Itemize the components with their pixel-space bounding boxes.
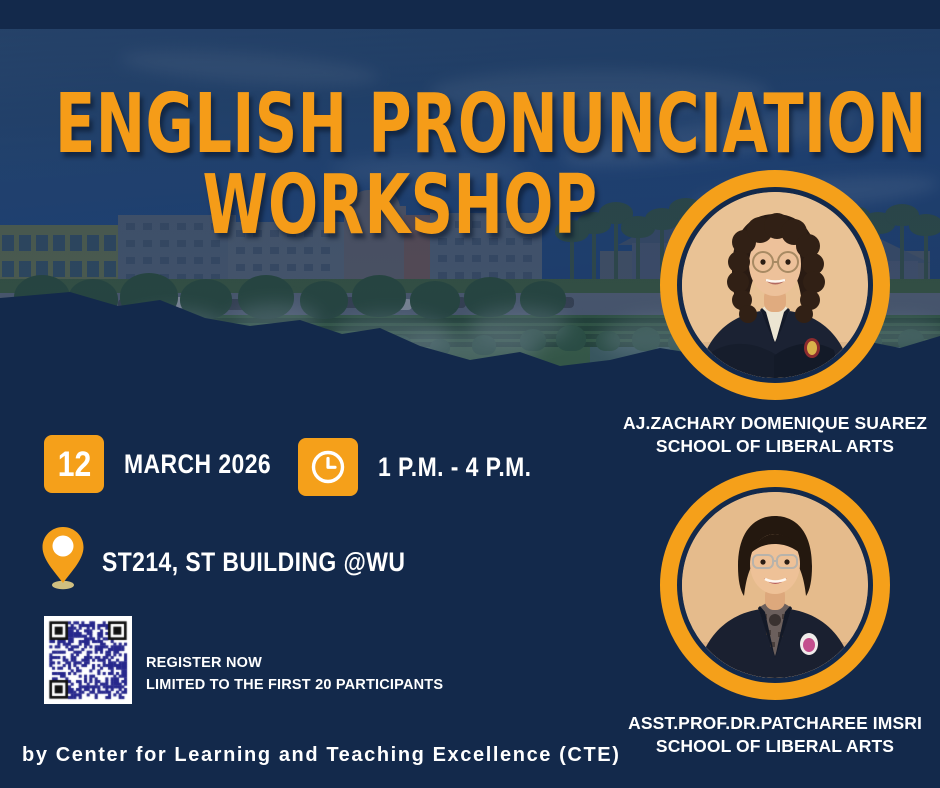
speaker-card-2: ASST.PROF.DR.PATCHAREE IMSRI SCHOOL OF L… <box>660 470 890 700</box>
speaker-caption: AJ.ZACHARY DOMENIQUE SUAREZ SCHOOL OF LI… <box>615 412 935 458</box>
limit-label: LIMITED TO THE FIRST 20 PARTICIPANTS <box>146 674 443 696</box>
date-row: 12 MARCH 2026 <box>44 435 297 493</box>
location-pin-icon <box>40 525 86 591</box>
event-poster: ENGLISH PRONUNCIATION WORKSHOP 12 MARCH … <box>0 0 940 788</box>
register-now-label: REGISTER NOW <box>146 652 443 674</box>
clock-icon <box>298 438 358 496</box>
venue-row: ST214, ST BUILDING @WU <box>40 525 459 591</box>
day-number: 12 <box>57 447 90 482</box>
avatar <box>682 192 868 378</box>
time-row: 1 P.M. - 4 P.M. <box>298 438 559 496</box>
portrait-ring <box>660 470 890 700</box>
qr-code[interactable] <box>44 616 132 704</box>
speaker-caption: ASST.PROF.DR.PATCHAREE IMSRI SCHOOL OF L… <box>615 712 935 758</box>
venue-label: ST214, ST BUILDING @WU <box>102 547 459 578</box>
month-year-label: MARCH 2026 <box>124 449 297 480</box>
speaker-card-1: AJ.ZACHARY DOMENIQUE SUAREZ SCHOOL OF LI… <box>660 170 890 400</box>
day-badge: 12 <box>44 435 104 493</box>
registration-row: REGISTER NOW LIMITED TO THE FIRST 20 PAR… <box>44 616 443 704</box>
time-label: 1 P.M. - 4 P.M. <box>378 452 559 483</box>
speaker-org: SCHOOL OF LIBERAL ARTS <box>615 735 935 758</box>
registration-text: REGISTER NOW LIMITED TO THE FIRST 20 PAR… <box>146 652 443 697</box>
footer-credit: by Center for Learning and Teaching Exce… <box>22 744 621 767</box>
speaker-name: ASST.PROF.DR.PATCHAREE IMSRI <box>615 712 935 735</box>
speaker-name: AJ.ZACHARY DOMENIQUE SUAREZ <box>615 412 935 435</box>
portrait-ring <box>660 170 890 400</box>
avatar <box>682 492 868 678</box>
speaker-org: SCHOOL OF LIBERAL ARTS <box>615 435 935 458</box>
